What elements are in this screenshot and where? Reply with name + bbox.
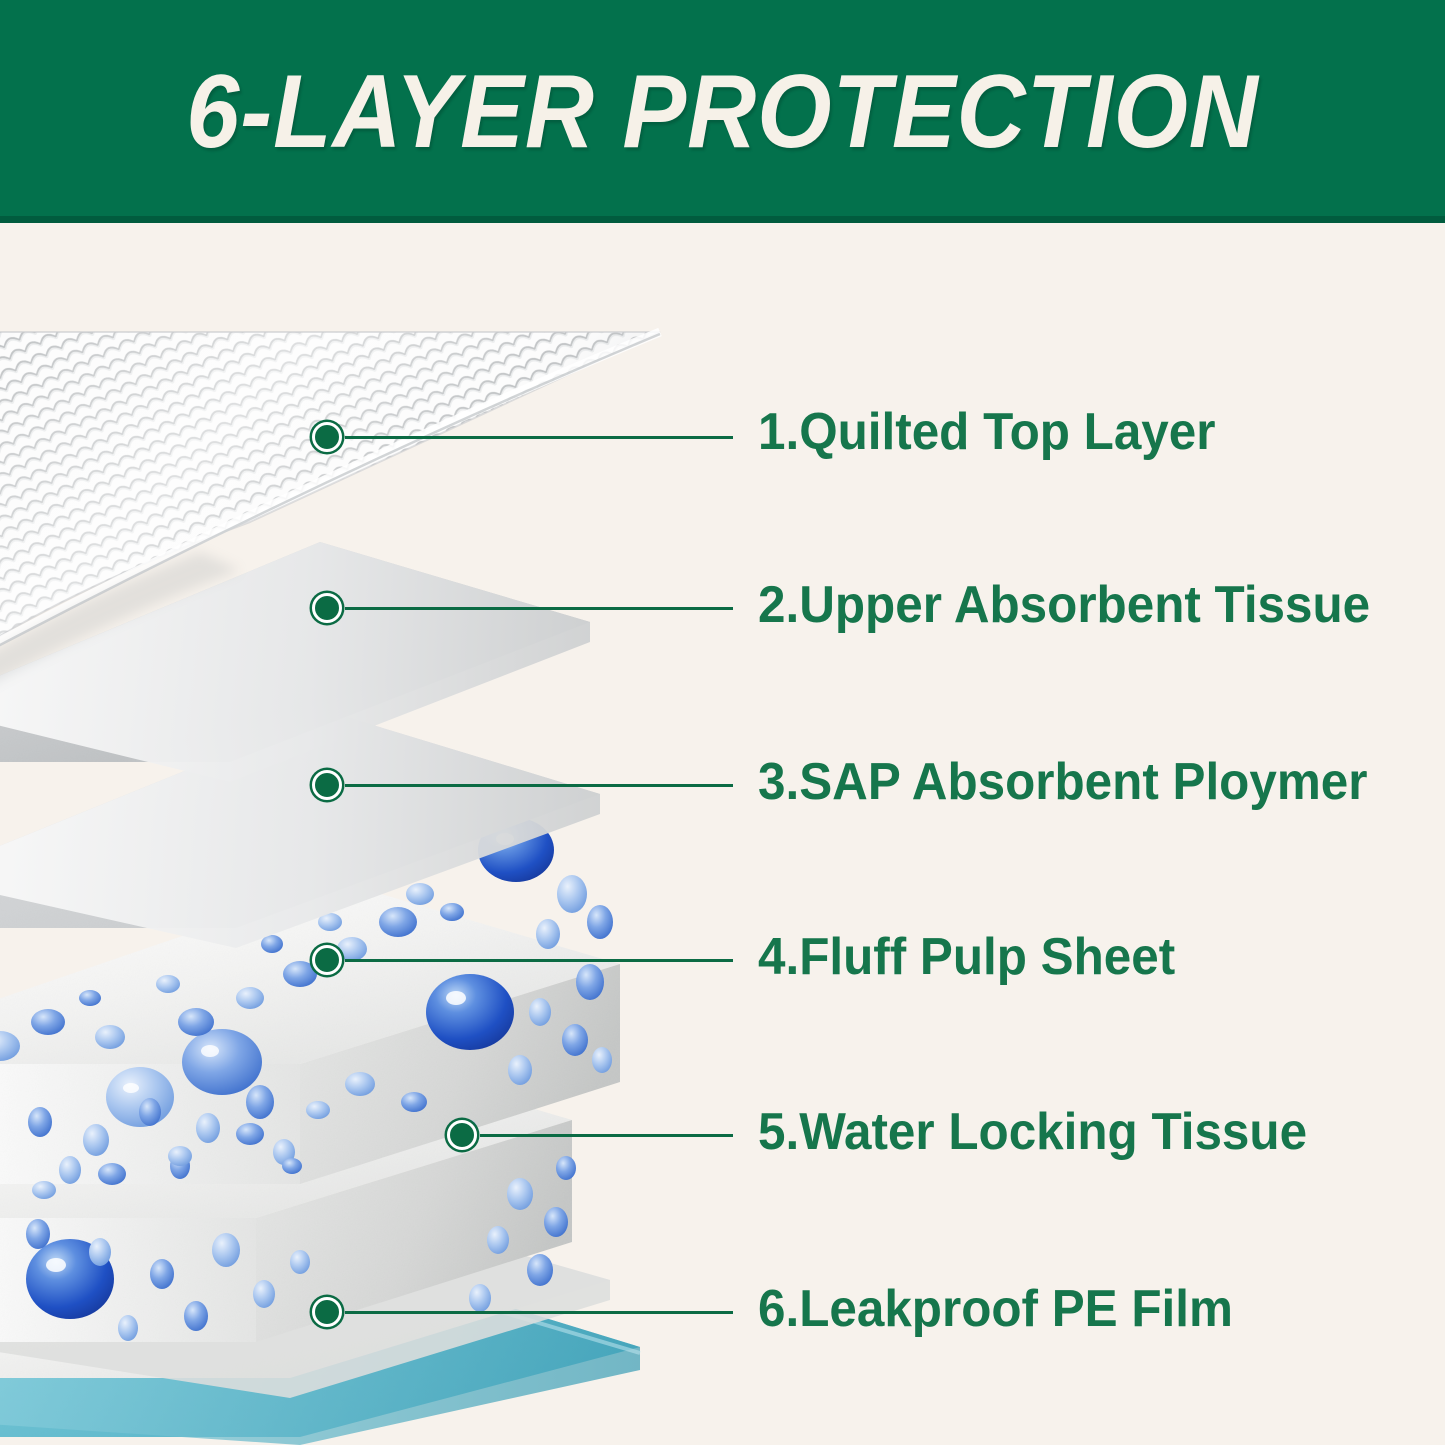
label-layer-3: 3.SAP Absorbent Ploymer	[758, 754, 1367, 810]
callout-dot-3[interactable]	[312, 770, 342, 800]
infographic-page: 6-LAYER PROTECTION	[0, 0, 1445, 1445]
layer-stack-illustration	[0, 222, 1445, 1445]
header-underline-rule	[0, 216, 1445, 223]
callout-dot-2[interactable]	[312, 593, 342, 623]
leader-line-6	[345, 1311, 733, 1314]
leader-line-1	[345, 436, 733, 439]
label-layer-2: 2.Upper Absorbent Tissue	[758, 577, 1370, 633]
leader-line-2	[345, 607, 733, 610]
callout-dot-6[interactable]	[312, 1297, 342, 1327]
leader-line-3	[345, 784, 733, 787]
leader-line-4	[345, 959, 733, 962]
page-title: 6-LAYER PROTECTION	[58, 48, 1387, 176]
label-layer-1: 1.Quilted Top Layer	[758, 404, 1215, 460]
label-layer-4: 4.Fluff Pulp Sheet	[758, 929, 1175, 985]
label-layer-5: 5.Water Locking Tissue	[758, 1104, 1307, 1160]
leader-line-5	[480, 1134, 733, 1137]
callout-dot-5[interactable]	[447, 1120, 477, 1150]
callout-dot-4[interactable]	[312, 945, 342, 975]
callout-dot-1[interactable]	[312, 422, 342, 452]
label-layer-6: 6.Leakproof PE Film	[758, 1281, 1233, 1337]
